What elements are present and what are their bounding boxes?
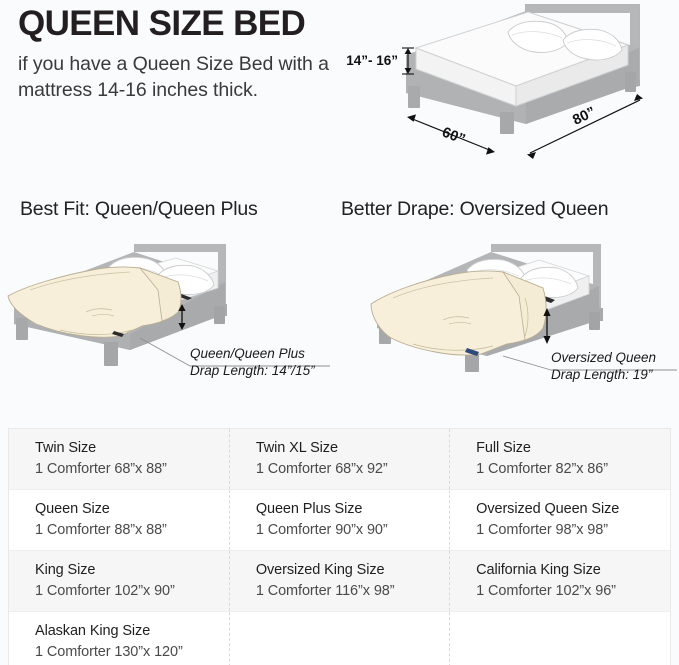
table-cell: Oversized King Size 1 Comforter 116”x 98…	[229, 551, 449, 612]
cell-title: Oversized King Size	[256, 560, 449, 581]
cell-title: Queen Plus Size	[256, 499, 449, 520]
table-row: Queen Size 1 Comforter 88”x 88” Queen Pl…	[9, 490, 670, 551]
cell-title: King Size	[35, 560, 229, 581]
cell-title: Alaskan King Size	[35, 621, 229, 642]
cell-desc: 1 Comforter 102”x 96”	[476, 581, 670, 602]
cell-desc: 1 Comforter 82”x 86”	[476, 459, 670, 480]
hero-length-label: 80”	[570, 104, 598, 129]
section-heading-best-fit: Best Fit: Queen/Queen Plus	[20, 198, 258, 221]
table-cell: Queen Size 1 Comforter 88”x 88”	[9, 490, 229, 551]
table-row: Alaskan King Size 1 Comforter 130”x 120”	[9, 612, 670, 665]
cell-desc: 1 Comforter 102”x 90”	[35, 581, 229, 602]
hero-width-label: 60”	[440, 125, 468, 149]
cell-title: Twin Size	[35, 438, 229, 459]
cell-title: Twin XL Size	[256, 438, 449, 459]
section-heading-better-drape: Better Drape: Oversized Queen	[341, 198, 608, 221]
panel-best-fit: Queen/Queen Plus Drap Length: 14”/15”	[0, 238, 340, 420]
table-cell: Queen Plus Size 1 Comforter 90”x 90”	[229, 490, 449, 551]
cell-desc: 1 Comforter 116”x 98”	[256, 581, 449, 602]
callout-best-fit-line2: Drap Length: 14”/15”	[190, 363, 315, 378]
table-cell: California King Size 1 Comforter 102”x 9…	[450, 551, 670, 612]
bed-illustration-better-drape: Oversized Queen Drap Length: 19”	[339, 238, 679, 420]
page-subtitle: if you have a Queen Size Bed with a matt…	[18, 52, 348, 104]
panel-better-drape: Oversized Queen Drap Length: 19”	[339, 238, 679, 420]
hero-bed-diagram: 14”- 16” 60” 80”	[340, 0, 679, 180]
cell-desc: 1 Comforter 68”x 92”	[256, 459, 449, 480]
cell-desc: 1 Comforter 130”x 120”	[35, 642, 229, 663]
hero-thickness-label: 14”- 16”	[346, 53, 398, 68]
table-row: King Size 1 Comforter 102”x 90” Oversize…	[9, 551, 670, 612]
size-table: Twin Size 1 Comforter 68”x 88” Twin XL S…	[8, 428, 671, 665]
table-cell: Full Size 1 Comforter 82”x 86”	[450, 429, 670, 490]
hero-bed-illustration: 14”- 16” 60” 80”	[340, 0, 679, 180]
cell-title: Queen Size	[35, 499, 229, 520]
header-block: QUEEN SIZE BED if you have a Queen Size …	[18, 4, 348, 104]
cell-desc: 1 Comforter 88”x 88”	[35, 520, 229, 541]
cell-desc: 1 Comforter 98”x 98”	[476, 520, 670, 541]
callout-better-drape-line1: Oversized Queen	[551, 350, 656, 365]
callout-better-drape-line2: Drap Length: 19”	[551, 367, 653, 382]
table-cell: Twin XL Size 1 Comforter 68”x 92”	[229, 429, 449, 490]
table-cell-empty	[450, 612, 670, 665]
cell-desc: 1 Comforter 68”x 88”	[35, 459, 229, 480]
table-cell-empty	[229, 612, 449, 665]
page-title: QUEEN SIZE BED	[18, 4, 348, 43]
table-cell: Alaskan King Size 1 Comforter 130”x 120”	[9, 612, 229, 665]
bed-illustration-best-fit: Queen/Queen Plus Drap Length: 14”/15”	[0, 238, 340, 420]
table-row: Twin Size 1 Comforter 68”x 88” Twin XL S…	[9, 429, 670, 490]
cell-title: California King Size	[476, 560, 670, 581]
cell-title: Full Size	[476, 438, 670, 459]
cell-desc: 1 Comforter 90”x 90”	[256, 520, 449, 541]
table-cell: Oversized Queen Size 1 Comforter 98”x 98…	[450, 490, 670, 551]
table-cell: King Size 1 Comforter 102”x 90”	[9, 551, 229, 612]
callout-best-fit-line1: Queen/Queen Plus	[190, 346, 305, 361]
cell-title: Oversized Queen Size	[476, 499, 670, 520]
table-cell: Twin Size 1 Comforter 68”x 88”	[9, 429, 229, 490]
